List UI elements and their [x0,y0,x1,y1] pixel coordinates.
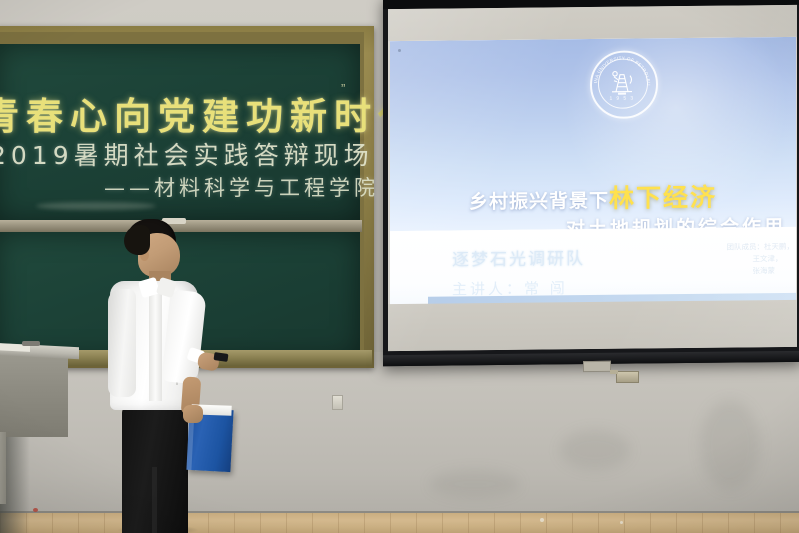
screen-blank-bottom [388,300,797,351]
slide-team-name: 逐梦石光调研队 [452,244,585,270]
emblem-year: 1 9 5 3 [608,96,636,102]
blackboard-upper-panel: 青春心向党建功新时代 ” 2019暑期社会实践答辩现场 ——材料科学与工程学院 [0,44,360,221]
presenter-folder-hand [183,405,203,423]
slide-title-accent: 林下经济 [609,183,717,213]
wall-switch[interactable] [332,395,343,410]
chalk-headline: 青春心向党建功新时代 [0,86,422,140]
podium-leg [0,432,6,504]
slide-member-3: 张海蒙 [753,266,776,275]
title-slide: CHINA UNIVERSITY OF PETROLEUM [390,37,796,306]
wall-smudge [700,400,760,490]
student-presenter [104,219,239,533]
slide-member-1: 杜天鹏， [764,242,794,251]
floor-debris [540,518,544,522]
slide-title-white: 乡村振兴背景下 [469,190,609,213]
presenter-leg-gap [152,467,157,533]
slide-members-label: 团队成员： [727,242,765,251]
projector-screen: CHINA UNIVERSITY OF PETROLEUM [383,0,799,366]
presenter-hair-front [124,225,150,255]
slide-title-row: 乡村振兴背景下林下经济 [390,177,796,217]
screen-blank-top [388,5,797,41]
podium-body [0,355,68,437]
wall-smudge [430,470,520,498]
chalk-quote-mark: ” [341,81,345,96]
chalk-line-3: ——材料科学与工程学院 [104,172,379,202]
chalk-dust [36,202,156,210]
emblem-derrick-glyph [606,66,638,98]
wall-hook [616,371,639,383]
presenter-left-sleeve [108,289,136,397]
chalk-line-2: 2019暑期社会实践答辩现场 [0,136,374,172]
classroom-scene: 青春心向党建功新时代 ” 2019暑期社会实践答辩现场 ——材料科学与工程学院 [0,0,799,533]
slide-corner-dot [398,49,401,52]
slide-member-list: 团队成员：杜天鹏， 王文津， 张海蒙 [727,241,795,278]
presenter-shirt-placket [149,291,162,401]
screen-surface: CHINA UNIVERSITY OF PETROLEUM [388,5,797,351]
china-university-of-petroleum-emblem: CHINA UNIVERSITY OF PETROLEUM [590,50,656,117]
screen-pull-handle[interactable] [583,361,611,372]
podium-clip [22,341,40,346]
floor-debris [620,521,623,524]
slide-member-2: 王文津， [753,254,783,263]
floor-red-mark [33,508,38,512]
wall-smudge [560,430,630,470]
